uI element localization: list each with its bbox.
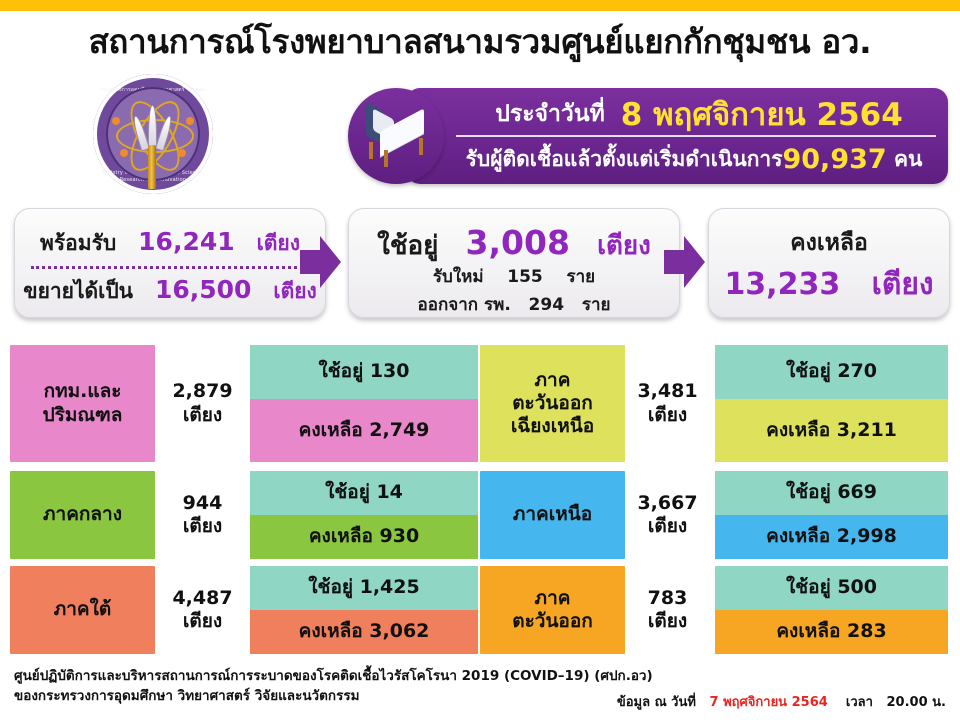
footer-asof: ข้อมูล ณ วันที่ 7 พฤศจิกายน 2564 เวลา 20… <box>617 691 946 712</box>
orbit-node-icon <box>186 117 194 125</box>
region-inuse-text: ใช้อยู่ 500 <box>786 576 877 599</box>
region-inuse-cell: ใช้อยู่ 500 <box>715 566 948 610</box>
footer-line-1: ศูนย์ปฏิบัติการและบริหารสถานการณ์การระบา… <box>14 666 653 686</box>
in-use-card: ใช้อยู่ 3,008 เตียง รับใหม่ 155 ราย ออกจ… <box>348 208 680 318</box>
region-total-value: 944 <box>183 492 223 515</box>
region-total-value: 3,667 <box>637 492 697 515</box>
orbit-node-icon <box>178 149 186 157</box>
ready-beds-line: พร้อมรับ 16,241 เตียง <box>15 227 325 260</box>
new-admissions-line: รับใหม่ 155 ราย <box>349 263 679 290</box>
capacity-card: พร้อมรับ 16,241 เตียง ขยายได้เป็น 16,500… <box>14 208 326 318</box>
region-total-unit: เตียง <box>183 515 223 538</box>
region-remaining-text: คงเหลือ 930 <box>309 525 419 548</box>
region-total-value: 3,481 <box>637 380 697 403</box>
region-name-cell: ภาคใต้ <box>10 566 155 654</box>
summary-banner: ประจำวันที่ 8 พฤศจิกายน 2564 รับผู้ติดเช… <box>348 88 948 184</box>
seal-inner-disc <box>106 87 200 181</box>
new-admissions-label: รับใหม่ <box>433 267 484 287</box>
asof-prefix: ข้อมูล ณ วันที่ <box>617 695 696 710</box>
flow-arrow-1-icon <box>300 236 340 288</box>
discharged-line: ออกจาก รพ. 294 ราย <box>349 291 679 318</box>
region-total-beds: 2,879เตียง <box>160 345 245 462</box>
bed-leg <box>384 150 388 167</box>
region-total-value: 2,879 <box>172 380 232 403</box>
region-total-unit: เตียง <box>172 610 232 633</box>
ministry-seal-logo: กระทรวงการอุดมศึกษา วิทยาศาสตร์ วิจัยและ… <box>93 74 213 194</box>
bed-leg <box>369 142 373 159</box>
in-use-unit: เตียง <box>597 231 651 261</box>
region-remaining-cell: คงเหลือ 2,749 <box>250 399 478 462</box>
orbit-node-icon <box>120 149 128 157</box>
ready-beds-unit: เตียง <box>257 231 300 255</box>
region-remaining-cell: คงเหลือ 3,211 <box>715 399 948 462</box>
hospital-bed-icon <box>348 88 444 184</box>
region-remaining-cell: คงเหลือ 3,062 <box>250 610 478 654</box>
region-total-beds: 3,481เตียง <box>625 345 710 462</box>
region-total-unit: เตียง <box>637 515 697 538</box>
region-total-value: 4,487 <box>172 587 232 610</box>
region-remaining-text: คงเหลือ 2,749 <box>299 419 430 442</box>
banner-date-prefix: ประจำวันที่ <box>495 96 605 132</box>
asof-date: 7 พฤศจิกายน 2564 <box>710 695 828 710</box>
discharged-label: ออกจาก รพ. <box>418 295 511 315</box>
region-total-unit: เตียง <box>648 610 688 633</box>
discharged-value: 294 <box>529 295 565 315</box>
region-total-unit: เตียง <box>637 404 697 427</box>
expandable-beds-line: ขยายได้เป็น 16,500 เตียง <box>15 275 325 308</box>
arrow-shaft <box>664 250 686 274</box>
region-inuse-text: ใช้อยู่ 270 <box>786 360 877 383</box>
region-name-cell: ภาคเหนือ <box>480 471 625 559</box>
trident-shaft <box>148 145 156 189</box>
region-inuse-text: ใช้อยู่ 130 <box>319 360 410 383</box>
region-total-value: 783 <box>648 587 688 610</box>
region-remaining-text: คงเหลือ 2,998 <box>766 525 897 548</box>
arrow-shaft <box>300 250 322 274</box>
region-name-cell: ภาคกลาง <box>10 471 155 559</box>
remaining-card: คงเหลือ 13,233 เตียง <box>708 208 950 318</box>
footer-line-2: ของกระทรวงการอุดมศึกษา วิทยาศาสตร์ วิจัย… <box>14 686 653 706</box>
expandable-beds-value: 16,500 <box>155 275 251 304</box>
region-inuse-cell: ใช้อยู่ 270 <box>715 345 948 399</box>
region-total-beds: 3,667เตียง <box>625 471 710 559</box>
remaining-unit: เตียง <box>872 267 934 302</box>
region-remaining-cell: คงเหลือ 930 <box>250 515 478 559</box>
in-use-value: 3,008 <box>466 223 570 262</box>
region-total-unit: เตียง <box>172 404 232 427</box>
remaining-line: 13,233 เตียง <box>709 261 949 308</box>
region-total-beds: 783เตียง <box>625 566 710 654</box>
region-name-label: กทม.และปริมณฑล <box>43 380 123 426</box>
banner-cumulative-row: รับผู้ติดเชื้อแล้วตั้งแต่เริ่มดำเนินการ … <box>446 137 942 181</box>
region-total-beds: 944เตียง <box>160 471 245 559</box>
asof-time: 20.00 น. <box>887 695 946 710</box>
asof-time-label: เวลา <box>846 695 873 710</box>
discharged-unit: ราย <box>582 295 611 315</box>
region-inuse-text: ใช้อยู่ 669 <box>786 481 877 504</box>
banner-cumulative-label: รับผู้ติดเชื้อแล้วตั้งแต่เริ่มดำเนินการ <box>466 143 783 176</box>
new-admissions-value: 155 <box>507 267 543 287</box>
ready-beds-value: 16,241 <box>138 227 234 256</box>
top-accent-bar <box>0 0 960 11</box>
flow-arrow-2-icon <box>664 236 704 288</box>
capacity-divider <box>31 266 309 269</box>
ready-beds-label: พร้อมรับ <box>40 231 116 255</box>
region-inuse-cell: ใช้อยู่ 669 <box>715 471 948 515</box>
region-remaining-text: คงเหลือ 283 <box>776 620 886 643</box>
region-inuse-cell: ใช้อยู่ 130 <box>250 345 478 399</box>
arrow-head <box>684 236 705 288</box>
region-inuse-cell: ใช้อยู่ 14 <box>250 471 478 515</box>
region-remaining-text: คงเหลือ 3,211 <box>766 419 897 442</box>
page-title: สถานการณ์โรงพยาบาลสนามรวมศูนย์แยกกักชุมช… <box>0 20 960 64</box>
arrow-head <box>320 236 341 288</box>
banner-cumulative-value: 90,937 <box>782 144 886 175</box>
banner-date-row: ประจำวันที่ 8 พฤศจิกายน 2564 <box>456 94 942 134</box>
in-use-line: ใช้อยู่ 3,008 เตียง <box>349 223 679 266</box>
region-inuse-text: ใช้อยู่ 14 <box>325 481 403 504</box>
region-remaining-cell: คงเหลือ 2,998 <box>715 515 948 559</box>
bed-illustration <box>364 106 430 168</box>
region-name-label: ภาคกลาง <box>43 503 122 526</box>
region-remaining-cell: คงเหลือ 283 <box>715 610 948 654</box>
region-inuse-text: ใช้อยู่ 1,425 <box>308 576 419 599</box>
footer-source: ศูนย์ปฏิบัติการและบริหารสถานการณ์การระบา… <box>14 666 653 706</box>
region-table: กทม.และปริมณฑล2,879เตียงใช้อยู่ 130คงเหล… <box>0 338 960 656</box>
region-name-label: ภาคตะวันออกเฉียงเหนือ <box>511 369 594 439</box>
banner-cumulative-unit: คน <box>894 143 922 176</box>
expandable-beds-label: ขยายได้เป็น <box>23 279 133 303</box>
region-inuse-cell: ใช้อยู่ 1,425 <box>250 566 478 610</box>
region-name-cell: ภาคตะวันออก <box>480 566 625 654</box>
region-name-label: ภาคตะวันออก <box>512 587 593 633</box>
banner-date-value: 8 พฤศจิกายน 2564 <box>621 89 903 139</box>
region-total-beds: 4,487เตียง <box>160 566 245 654</box>
new-admissions-unit: ราย <box>566 267 595 287</box>
remaining-value: 13,233 <box>724 267 840 302</box>
bed-leg <box>419 138 423 155</box>
region-remaining-text: คงเหลือ 3,062 <box>299 620 430 643</box>
region-name-cell: ภาคตะวันออกเฉียงเหนือ <box>480 345 625 462</box>
in-use-label: ใช้อยู่ <box>377 231 438 261</box>
region-name-cell: กทม.และปริมณฑล <box>10 345 155 462</box>
remaining-label: คงเหลือ <box>709 225 949 261</box>
orbit-node-icon <box>112 117 120 125</box>
region-name-label: ภาคเหนือ <box>513 503 592 526</box>
region-name-label: ภาคใต้ <box>54 598 112 621</box>
